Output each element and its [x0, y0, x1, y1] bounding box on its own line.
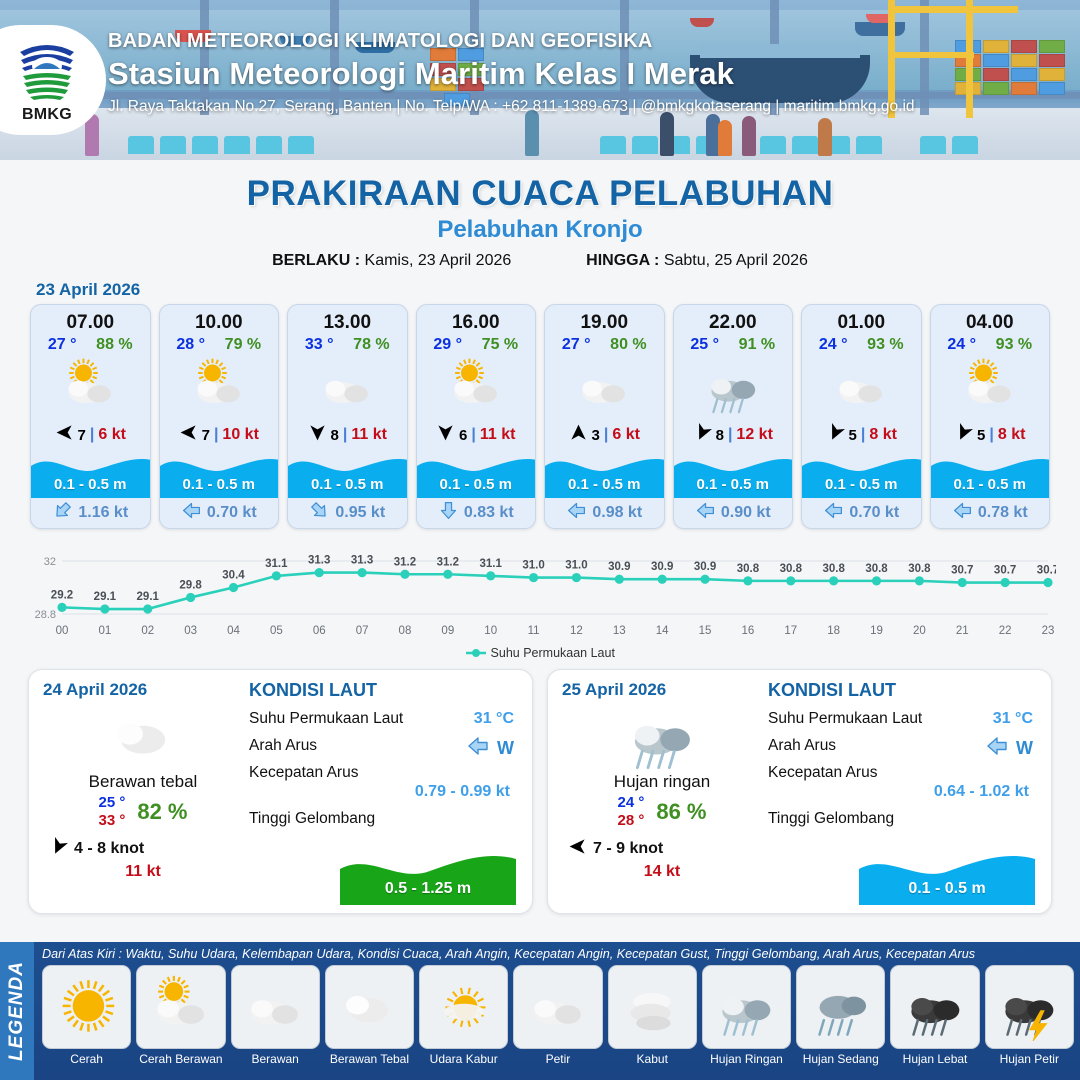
panel-temp-max: 28 °: [617, 812, 644, 831]
svg-text:30.8: 30.8: [737, 563, 760, 575]
card-temperature: 28 °: [176, 336, 205, 354]
wind-direction-arrow-icon: [55, 423, 74, 447]
wind-separator: |: [471, 426, 475, 444]
legend-item: Berawan: [231, 965, 320, 1066]
panel-gust: 11 kt: [43, 863, 243, 881]
card-current: 0.78 kt: [931, 498, 1050, 528]
wind-direction-arrow-icon: [826, 423, 845, 447]
sst-row: Suhu Permukaan Laut 31 °C: [249, 710, 518, 728]
card-temperature: 27 °: [562, 336, 591, 354]
current-direction-row: Arah Arus W: [768, 737, 1037, 755]
weather-cerah-icon: [42, 965, 131, 1049]
wave-height: 0.1 - 0.5 m: [417, 476, 536, 493]
card-time: 10.00: [160, 305, 279, 334]
legend-item: Hujan Petir: [985, 965, 1074, 1066]
svg-text:31.0: 31.0: [565, 560, 587, 572]
panel-wind-range: 7 - 9 knot: [593, 840, 663, 858]
weather-berawan-tebal-icon: [325, 965, 414, 1049]
card-temperature: 24 °: [947, 336, 976, 354]
weather-berawan-tebal-icon: [43, 700, 243, 772]
current-direction-arrow-icon: [952, 500, 973, 526]
weather-kabut-icon: [608, 965, 697, 1049]
page-title: PRAKIRAAN CUACA PELABUHAN: [0, 174, 1080, 214]
legend-icon-list: Cerah Cerah Berawan Berawan Berawan Teba…: [42, 965, 1074, 1066]
sea-condition-title: KONDISI LAUT: [249, 680, 518, 701]
current-speed: 0.83 kt: [464, 504, 514, 522]
wind-speed: 8: [331, 427, 339, 444]
svg-text:15: 15: [699, 625, 712, 637]
wind-gust: 11 kt: [480, 426, 516, 444]
wave-height: 0.1 - 0.5 m: [674, 476, 793, 493]
wind-separator: |: [728, 426, 732, 444]
card-humidity: 79 %: [225, 336, 261, 354]
current-direction-arrow-icon: [566, 500, 587, 526]
current-direction-arrow-icon: [695, 500, 716, 526]
sst-value: 31 °C: [993, 710, 1033, 728]
panel-wind: 7 - 9 knot: [562, 837, 762, 861]
page-header: BMKG BADAN METEOROLOGI KLIMATOLOGI DAN G…: [0, 0, 1080, 160]
sst-row: Suhu Permukaan Laut 31 °C: [768, 710, 1037, 728]
legend-item: Cerah Berawan: [136, 965, 225, 1066]
hourly-card[interactable]: 10.00 28 ° 79 % 7 | 10 kt 0.1 - 0.5 m 0.…: [159, 304, 280, 529]
card-current: 1.16 kt: [31, 498, 150, 528]
current-direction-arrow-icon: [52, 500, 73, 526]
card-current: 0.95 kt: [288, 498, 407, 528]
current-direction-arrow-icon: [438, 500, 459, 526]
wind-separator: |: [604, 426, 608, 444]
valid-to-label: HINGGA :: [586, 252, 659, 269]
wave-height: 0.1 - 0.5 m: [931, 476, 1050, 493]
current-speed: 1.16 kt: [78, 504, 128, 522]
current-speed-row: Kecepatan Arus 0.64 - 1.02 kt: [768, 764, 1037, 801]
card-humidity: 91 %: [739, 336, 775, 354]
card-wave: 0.1 - 0.5 m: [288, 450, 407, 498]
wind-direction-arrow-icon: [954, 423, 973, 447]
wave-height: 0.1 - 0.5 m: [160, 476, 279, 493]
weather-hujan-ringan-icon: [702, 965, 791, 1049]
hourly-card[interactable]: 07.00 27 ° 88 % 7 | 6 kt 0.1 - 0.5 m 1.1…: [30, 304, 151, 529]
svg-text:31.0: 31.0: [522, 560, 544, 572]
card-current: 0.70 kt: [802, 498, 921, 528]
card-time: 07.00: [31, 305, 150, 334]
hourly-card[interactable]: 22.00 25 ° 91 % 8 | 12 kt 0.1 - 0.5 m 0.…: [673, 304, 794, 529]
card-time: 01.00: [802, 305, 921, 334]
weather-cerah-berawan-icon: [417, 354, 536, 420]
card-temperature: 24 °: [819, 336, 848, 354]
card-wave: 0.1 - 0.5 m: [802, 450, 921, 498]
panel-gust: 14 kt: [562, 863, 762, 881]
card-humidity: 93 %: [867, 336, 903, 354]
hourly-card[interactable]: 13.00 33 ° 78 % 8 | 11 kt 0.1 - 0.5 m 0.…: [287, 304, 408, 529]
daily-panel[interactable]: 24 April 2026 Berawan tebal 25 ° 33 ° 82…: [28, 669, 533, 914]
current-speed-value: 0.79 - 0.99 kt: [249, 783, 518, 801]
current-speed-row: Kecepatan Arus 0.79 - 0.99 kt: [249, 764, 518, 801]
weather-petir-icon: [513, 965, 602, 1049]
svg-text:06: 06: [313, 625, 326, 637]
card-time: 13.00: [288, 305, 407, 334]
hourly-date-label: 23 April 2026: [36, 280, 1080, 300]
wind-gust: 11 kt: [351, 426, 387, 444]
card-current: 0.83 kt: [417, 498, 536, 528]
wind-speed: 7: [78, 427, 86, 444]
wind-speed: 8: [716, 427, 724, 444]
panel-condition: Hujan ringan: [562, 772, 762, 792]
card-time: 16.00: [417, 305, 536, 334]
weather-berawan-icon: [545, 354, 664, 420]
card-wind: 5 | 8 kt: [802, 420, 921, 450]
svg-text:30.9: 30.9: [608, 561, 630, 573]
weather-hujan-ringan-icon: [674, 354, 793, 420]
svg-text:19: 19: [870, 625, 883, 637]
svg-text:32: 32: [44, 556, 56, 568]
svg-text:11: 11: [528, 625, 540, 637]
panel-humidity: 82 %: [137, 799, 187, 825]
wind-direction-arrow-icon: [308, 423, 327, 447]
svg-text:00: 00: [56, 625, 69, 637]
wave-height: 0.1 - 0.5 m: [31, 476, 150, 493]
legend-item-label: Hujan Ringan: [702, 1052, 791, 1066]
wind-gust: 8 kt: [998, 426, 1026, 444]
wind-speed: 6: [459, 427, 467, 444]
wave-height: 0.1 - 0.5 m: [802, 476, 921, 493]
bmkg-logo-text: BMKG: [10, 106, 84, 124]
panel-wind-range: 4 - 8 knot: [74, 840, 144, 858]
legend-item-label: Udara Kabur: [419, 1052, 508, 1066]
wave-height: 0.1 - 0.5 m: [545, 476, 664, 493]
sst-value: 31 °C: [474, 710, 514, 728]
svg-text:09: 09: [441, 625, 454, 637]
svg-text:30.4: 30.4: [222, 570, 245, 582]
card-current: 0.90 kt: [674, 498, 793, 528]
chart-legend-label: Suhu Permukaan Laut: [491, 646, 615, 660]
legend-item: Kabut: [608, 965, 697, 1066]
wind-speed: 3: [592, 427, 600, 444]
card-wave: 0.1 - 0.5 m: [31, 450, 150, 498]
legend-item: Petir: [513, 965, 602, 1066]
svg-text:14: 14: [656, 625, 669, 637]
svg-text:17: 17: [784, 625, 797, 637]
card-wave: 0.1 - 0.5 m: [417, 450, 536, 498]
weather-hujan-lebat-icon: [890, 965, 979, 1049]
legend-item-label: Hujan Sedang: [796, 1052, 885, 1066]
header-text-block: BADAN METEOROLOGI KLIMATOLOGI DAN GEOFIS…: [108, 30, 915, 116]
svg-text:31.3: 31.3: [351, 555, 373, 567]
current-speed-value: 0.64 - 1.02 kt: [768, 783, 1037, 801]
panel-wind: 4 - 8 knot: [43, 837, 243, 861]
card-current: 0.70 kt: [160, 498, 279, 528]
legend-item-label: Cerah Berawan: [136, 1052, 225, 1066]
current-speed: 0.78 kt: [978, 504, 1028, 522]
legend-item-label: Hujan Petir: [985, 1052, 1074, 1066]
svg-text:10: 10: [484, 625, 497, 637]
svg-text:30.8: 30.8: [908, 563, 931, 575]
svg-text:30.8: 30.8: [780, 563, 803, 575]
sst-chart: 28.83229.20029.10129.10229.80330.40431.1…: [24, 539, 1056, 644]
card-temperature: 25 °: [690, 336, 719, 354]
weather-hujan-ringan-icon: [562, 700, 762, 772]
panel-temp-max: 33 °: [98, 812, 125, 831]
svg-text:03: 03: [184, 625, 197, 637]
card-humidity: 75 %: [482, 336, 518, 354]
hourly-card[interactable]: 19.00 27 ° 80 % 3 | 6 kt 0.1 - 0.5 m 0.9…: [544, 304, 665, 529]
svg-text:28.8: 28.8: [35, 609, 56, 621]
validity-range: BERLAKU : Kamis, 23 April 2026 HINGGA : …: [0, 252, 1080, 270]
card-time: 19.00: [545, 305, 664, 334]
svg-text:04: 04: [227, 625, 240, 637]
weather-cerah-berawan-icon: [31, 354, 150, 420]
wave-row: Tinggi Gelombang: [768, 810, 1037, 828]
svg-text:16: 16: [742, 625, 755, 637]
wind-direction-arrow-icon: [179, 423, 198, 447]
svg-text:30.8: 30.8: [822, 563, 845, 575]
svg-text:12: 12: [570, 625, 583, 637]
card-wind: 6 | 11 kt: [417, 420, 536, 450]
current-direction-arrow-icon: [309, 500, 330, 526]
svg-text:30.7: 30.7: [951, 565, 973, 577]
daily-forecast-panels: 24 April 2026 Berawan tebal 25 ° 33 ° 82…: [0, 661, 1080, 914]
svg-text:23: 23: [1042, 625, 1055, 637]
station-name: Stasiun Meteorologi Maritim Kelas I Mera…: [108, 56, 915, 92]
current-direction-arrow-icon: [466, 734, 490, 763]
svg-text:22: 22: [999, 625, 1012, 637]
svg-text:29.2: 29.2: [51, 589, 73, 601]
title-block: PRAKIRAAN CUACA PELABUHAN Pelabuhan Kron…: [0, 160, 1080, 270]
card-humidity: 93 %: [996, 336, 1032, 354]
wind-gust: 6 kt: [612, 426, 640, 444]
current-direction-arrow-icon: [181, 500, 202, 526]
svg-text:07: 07: [356, 625, 369, 637]
svg-text:08: 08: [399, 625, 412, 637]
svg-text:18: 18: [827, 625, 840, 637]
wind-gust: 6 kt: [98, 426, 126, 444]
weather-berawan-icon: [231, 965, 320, 1049]
wind-gust: 8 kt: [869, 426, 897, 444]
svg-text:31.2: 31.2: [394, 556, 416, 568]
card-current: 0.98 kt: [545, 498, 664, 528]
wave-badge: 0.1 - 0.5 m: [859, 849, 1035, 905]
wave-value: 0.5 - 1.25 m: [340, 880, 516, 898]
legend-item: Hujan Lebat: [890, 965, 979, 1066]
current-direction-arrow-icon: [823, 500, 844, 526]
current-direction-label: Arah Arus: [249, 737, 317, 754]
panel-temp-min: 25 °: [98, 794, 125, 813]
daily-panel[interactable]: 25 April 2026 Hujan ringan 24 ° 28 ° 86 …: [547, 669, 1052, 914]
wind-separator: |: [90, 426, 94, 444]
card-humidity: 88 %: [96, 336, 132, 354]
wave-height: 0.1 - 0.5 m: [288, 476, 407, 493]
current-speed: 0.70 kt: [849, 504, 899, 522]
wind-direction-arrow-icon: [569, 423, 588, 447]
legend-item: Hujan Sedang: [796, 965, 885, 1066]
legend-item-label: Petir: [513, 1052, 602, 1066]
chart-legend-marker: [465, 647, 487, 661]
card-wave: 0.1 - 0.5 m: [931, 450, 1050, 498]
svg-text:30.7: 30.7: [1037, 565, 1056, 577]
card-wind: 8 | 11 kt: [288, 420, 407, 450]
card-wind: 7 | 6 kt: [31, 420, 150, 450]
svg-text:21: 21: [956, 625, 969, 637]
card-wind: 8 | 12 kt: [674, 420, 793, 450]
wind-direction-arrow-icon: [49, 837, 68, 861]
wind-speed: 5: [849, 427, 857, 444]
svg-text:20: 20: [913, 625, 926, 637]
legend-tab: LEGENDA: [0, 942, 34, 1080]
valid-from-label: BERLAKU :: [272, 252, 360, 269]
card-temperature: 27 °: [48, 336, 77, 354]
panel-temp-min: 24 °: [617, 794, 644, 813]
legend-item-label: Hujan Lebat: [890, 1052, 979, 1066]
current-direction-value: W: [1016, 738, 1033, 759]
svg-text:31.1: 31.1: [265, 558, 288, 570]
current-speed-label: Kecepatan Arus: [249, 764, 358, 781]
card-humidity: 78 %: [353, 336, 389, 354]
contact-line: Jl. Raya Taktakan No.27, Serang, Banten …: [108, 98, 915, 116]
wind-direction-arrow-icon: [436, 423, 455, 447]
current-direction-value: W: [497, 738, 514, 759]
svg-text:29.1: 29.1: [137, 591, 160, 603]
legend-item-label: Berawan: [231, 1052, 320, 1066]
legend-item-label: Cerah: [42, 1052, 131, 1066]
current-direction-label: Arah Arus: [768, 737, 836, 754]
card-temperature: 29 °: [433, 336, 462, 354]
sst-label: Suhu Permukaan Laut: [768, 710, 922, 727]
card-time: 22.00: [674, 305, 793, 334]
weather-cerah-berawan-icon: [931, 354, 1050, 420]
weather-berawan-icon: [802, 354, 921, 420]
legend-tab-label: LEGENDA: [6, 961, 28, 1061]
legend-section: LEGENDA Dari Atas Kiri : Waktu, Suhu Uda…: [0, 942, 1080, 1080]
legend-item: Hujan Ringan: [702, 965, 791, 1066]
svg-text:05: 05: [270, 625, 283, 637]
svg-text:31.1: 31.1: [480, 558, 503, 570]
wave-label: Tinggi Gelombang: [249, 810, 375, 827]
chart-legend: Suhu Permukaan Laut: [0, 646, 1080, 661]
svg-text:30.8: 30.8: [865, 563, 888, 575]
current-speed: 0.95 kt: [335, 504, 385, 522]
weather-cerah-berawan-icon: [136, 965, 225, 1049]
wind-speed: 7: [202, 427, 210, 444]
bmkg-logo: BMKG: [0, 25, 106, 135]
legend-item-label: Berawan Tebal: [325, 1052, 414, 1066]
current-speed: 0.98 kt: [592, 504, 642, 522]
svg-text:29.8: 29.8: [179, 579, 202, 591]
wave-row: Tinggi Gelombang: [249, 810, 518, 828]
ship-icon: [690, 18, 714, 27]
current-direction-arrow-icon: [985, 734, 1009, 763]
svg-text:30.7: 30.7: [994, 565, 1016, 577]
weather-cerah-berawan-icon: [160, 354, 279, 420]
wave-badge: 0.5 - 1.25 m: [340, 849, 516, 905]
card-wave: 0.1 - 0.5 m: [160, 450, 279, 498]
wind-gust: 10 kt: [222, 426, 258, 444]
card-wind: 5 | 8 kt: [931, 420, 1050, 450]
weather-udara-kabur-icon: [419, 965, 508, 1049]
wind-gust: 12 kt: [736, 426, 772, 444]
svg-text:31.2: 31.2: [437, 556, 459, 568]
legend-item: Berawan Tebal: [325, 965, 414, 1066]
hourly-card[interactable]: 04.00 24 ° 93 % 5 | 8 kt 0.1 - 0.5 m 0.7…: [930, 304, 1051, 529]
card-wave: 0.1 - 0.5 m: [545, 450, 664, 498]
wind-speed: 5: [977, 427, 985, 444]
card-time: 04.00: [931, 305, 1050, 334]
legend-item: Cerah: [42, 965, 131, 1066]
wind-separator: |: [989, 426, 993, 444]
card-humidity: 80 %: [610, 336, 646, 354]
svg-text:29.1: 29.1: [94, 591, 117, 603]
panel-condition: Berawan tebal: [43, 772, 243, 792]
wind-direction-arrow-icon: [693, 423, 712, 447]
card-temperature: 33 °: [305, 336, 334, 354]
svg-text:02: 02: [141, 625, 154, 637]
hourly-forecast-list: 07.00 27 ° 88 % 7 | 6 kt 0.1 - 0.5 m 1.1…: [0, 304, 1080, 529]
sea-condition-title: KONDISI LAUT: [768, 680, 1037, 701]
card-wind: 3 | 6 kt: [545, 420, 664, 450]
wind-separator: |: [214, 426, 218, 444]
svg-text:30.9: 30.9: [694, 561, 716, 573]
svg-text:13: 13: [613, 625, 626, 637]
panel-humidity: 86 %: [656, 799, 706, 825]
legend-item: Udara Kabur: [419, 965, 508, 1066]
bmkg-emblem-icon: [10, 36, 84, 106]
wind-direction-arrow-icon: [568, 837, 587, 861]
current-speed: 0.70 kt: [207, 504, 257, 522]
hourly-card[interactable]: 16.00 29 ° 75 % 6 | 11 kt 0.1 - 0.5 m 0.…: [416, 304, 537, 529]
current-speed: 0.90 kt: [721, 504, 771, 522]
wave-label: Tinggi Gelombang: [768, 810, 894, 827]
current-direction-row: Arah Arus W: [249, 737, 518, 755]
wave-value: 0.1 - 0.5 m: [859, 880, 1035, 898]
wind-separator: |: [343, 426, 347, 444]
svg-text:31.3: 31.3: [308, 555, 330, 567]
legend-note: Dari Atas Kiri : Waktu, Suhu Udara, Kele…: [42, 947, 1074, 961]
agency-name: BADAN METEOROLOGI KLIMATOLOGI DAN GEOFIS…: [108, 30, 915, 53]
valid-to-value: Sabtu, 25 April 2026: [664, 252, 808, 269]
hourly-card[interactable]: 01.00 24 ° 93 % 5 | 8 kt 0.1 - 0.5 m 0.7…: [801, 304, 922, 529]
weather-hujan-sedang-icon: [796, 965, 885, 1049]
port-name: Pelabuhan Kronjo: [0, 216, 1080, 244]
sst-label: Suhu Permukaan Laut: [249, 710, 403, 727]
weather-berawan-icon: [288, 354, 407, 420]
card-wave: 0.1 - 0.5 m: [674, 450, 793, 498]
valid-from-value: Kamis, 23 April 2026: [365, 252, 512, 269]
wind-separator: |: [861, 426, 865, 444]
legend-item-label: Kabut: [608, 1052, 697, 1066]
weather-hujan-petir-icon: [985, 965, 1074, 1049]
card-wind: 7 | 10 kt: [160, 420, 279, 450]
svg-text:30.9: 30.9: [651, 561, 673, 573]
svg-text:01: 01: [98, 625, 111, 637]
current-speed-label: Kecepatan Arus: [768, 764, 877, 781]
